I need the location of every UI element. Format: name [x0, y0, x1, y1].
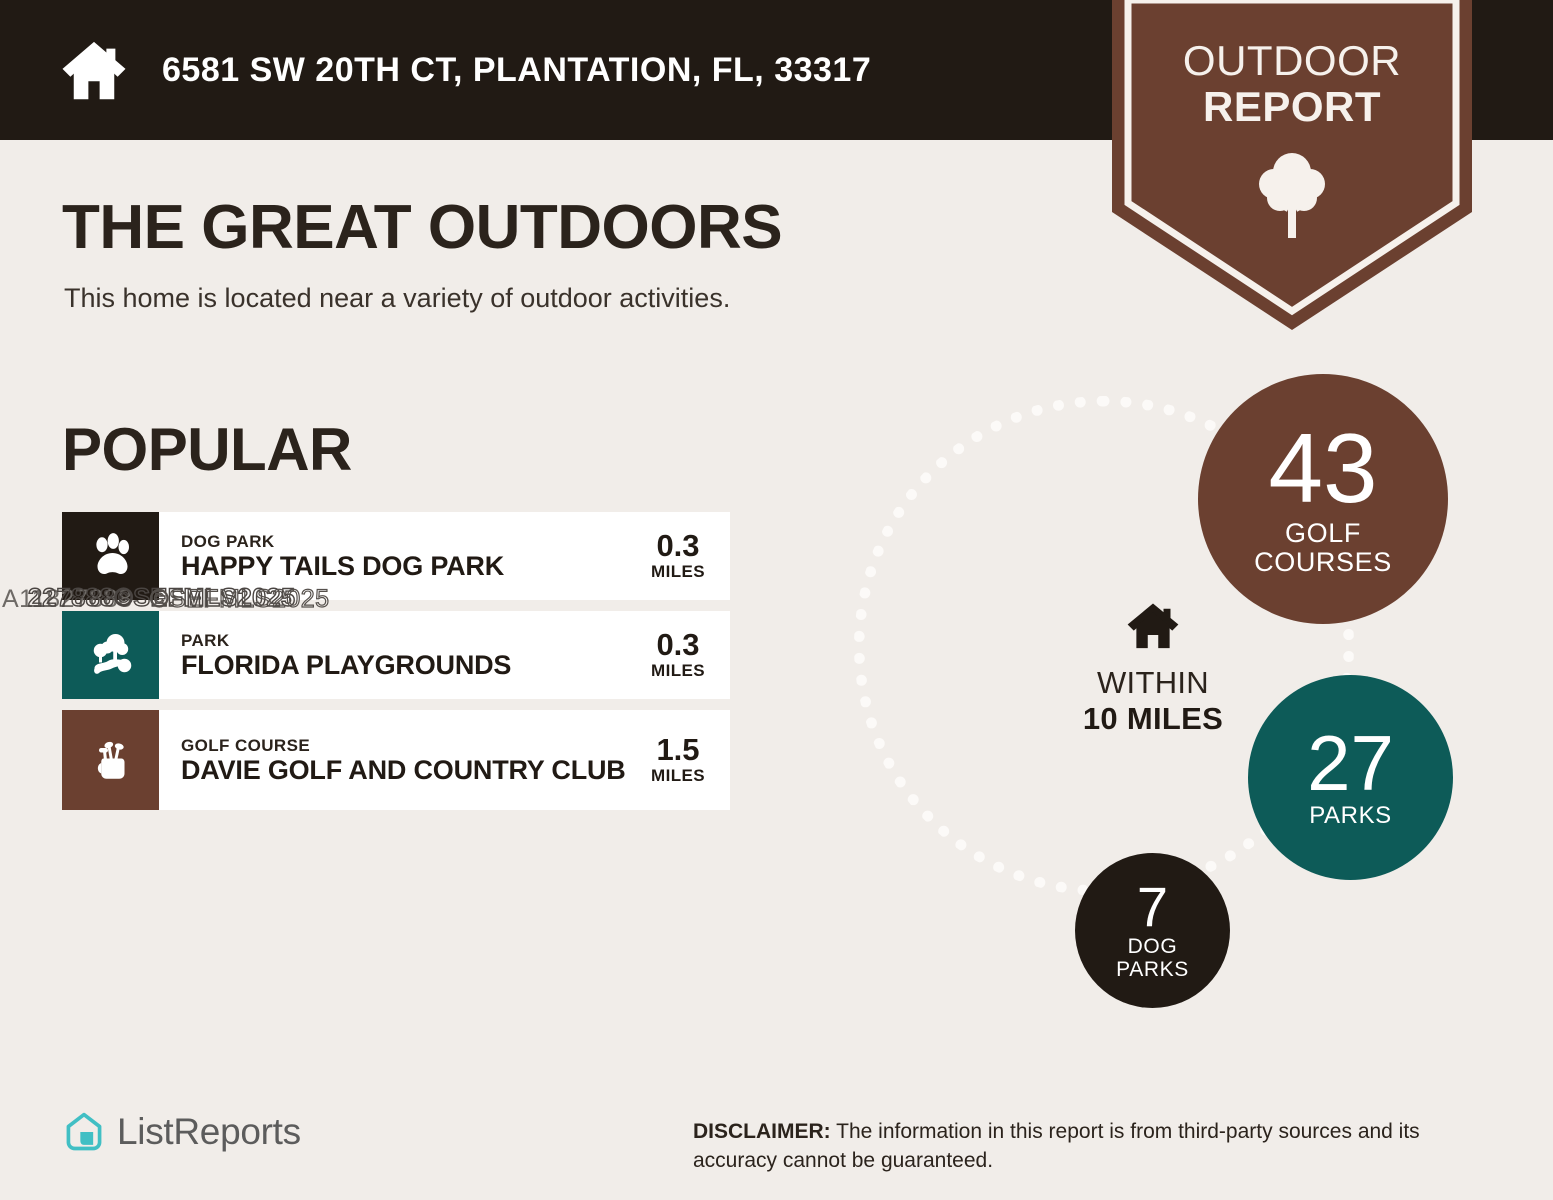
within-radius-label: WITHIN 10 MILES [1003, 600, 1303, 736]
stat-label-line-1: DOG [1128, 935, 1178, 958]
list-item-category: PARK [181, 630, 628, 651]
stat-bubble-parks: 27 PARKS [1248, 675, 1453, 880]
stat-value: 27 [1307, 726, 1394, 801]
list-item-text: GOLF COURSE DAVIE GOLF AND COUNTRY CLUB [159, 710, 634, 810]
list-item-name: FLORIDA PLAYGROUNDS [181, 651, 628, 680]
distance-unit: MILES [651, 562, 705, 582]
list-item[interactable]: GOLF COURSE DAVIE GOLF AND COUNTRY CLUB … [62, 710, 730, 810]
listreports-logo[interactable]: ListReports [62, 1110, 301, 1154]
disclaimer-label: DISCLAIMER: [693, 1120, 831, 1143]
page-subtitle: This home is located near a variety of o… [64, 283, 730, 314]
popular-list: DOG PARK HAPPY TAILS DOG PARK 0.3 MILES [62, 512, 730, 821]
stat-value: 7 [1137, 880, 1168, 934]
outdoor-report-page: 6581 SW 20TH CT, PLANTATION, FL, 33317 [0, 0, 1553, 1200]
badge-line-1: OUTDOOR [1112, 38, 1472, 84]
amenities-chart: WITHIN 10 MILES 43 GOLF COURSES 27 PARKS… [830, 370, 1470, 1030]
list-item[interactable]: DOG PARK HAPPY TAILS DOG PARK 0.3 MILES [62, 512, 730, 600]
stat-label: PARKS [1309, 803, 1392, 829]
listreports-house-pin-icon [62, 1110, 106, 1154]
stat-label-line-2: COURSES [1254, 547, 1392, 577]
list-item-category: DOG PARK [181, 531, 628, 552]
within-line-1: WITHIN [1003, 664, 1303, 702]
list-item-name: DAVIE GOLF AND COUNTRY CLUB [181, 756, 628, 785]
stat-bubble-dog-parks: 7 DOG PARKS [1075, 853, 1230, 1008]
list-item-name: HAPPY TAILS DOG PARK [181, 552, 628, 581]
golf-bag-icon [62, 710, 159, 810]
list-item-distance: 0.3 MILES [634, 611, 730, 699]
stat-label-line-1: GOLF [1285, 518, 1361, 548]
stat-label-line-2: PARKS [1116, 958, 1189, 981]
distance-unit: MILES [651, 661, 705, 681]
distance-value: 1.5 [656, 734, 699, 766]
popular-section-heading: POPULAR [62, 415, 352, 484]
distance-value: 0.3 [656, 629, 699, 661]
stat-label: GOLF COURSES [1254, 519, 1392, 577]
list-item-distance: 1.5 MILES [634, 710, 730, 810]
home-icon [58, 34, 130, 106]
outdoor-report-badge: OUTDOOR REPORT [1112, 0, 1472, 330]
park-trees-icon [62, 611, 159, 699]
list-item-text: PARK FLORIDA PLAYGROUNDS [159, 611, 634, 699]
stat-label: DOG PARKS [1116, 935, 1189, 981]
listreports-wordmark: ListReports [117, 1111, 301, 1153]
list-item-category: GOLF COURSE [181, 735, 628, 756]
distance-value: 0.3 [656, 530, 699, 562]
stat-bubble-golf-courses: 43 GOLF COURSES [1198, 374, 1448, 624]
disclaimer: DISCLAIMER: The information in this repo… [693, 1117, 1493, 1175]
list-item[interactable]: PARK FLORIDA PLAYGROUNDS 0.3 MILES [62, 611, 730, 699]
stat-value: 43 [1268, 421, 1377, 515]
paw-icon [62, 512, 159, 600]
page-title: THE GREAT OUTDOORS [62, 192, 782, 263]
distance-unit: MILES [651, 766, 705, 786]
badge-line-2: REPORT [1112, 84, 1472, 130]
badge-title: OUTDOOR REPORT [1112, 38, 1472, 130]
list-item-text: DOG PARK HAPPY TAILS DOG PARK [159, 512, 634, 600]
home-icon [1125, 600, 1181, 652]
list-item-distance: 0.3 MILES [634, 512, 730, 600]
property-address: 6581 SW 20TH CT, PLANTATION, FL, 33317 [162, 51, 871, 90]
